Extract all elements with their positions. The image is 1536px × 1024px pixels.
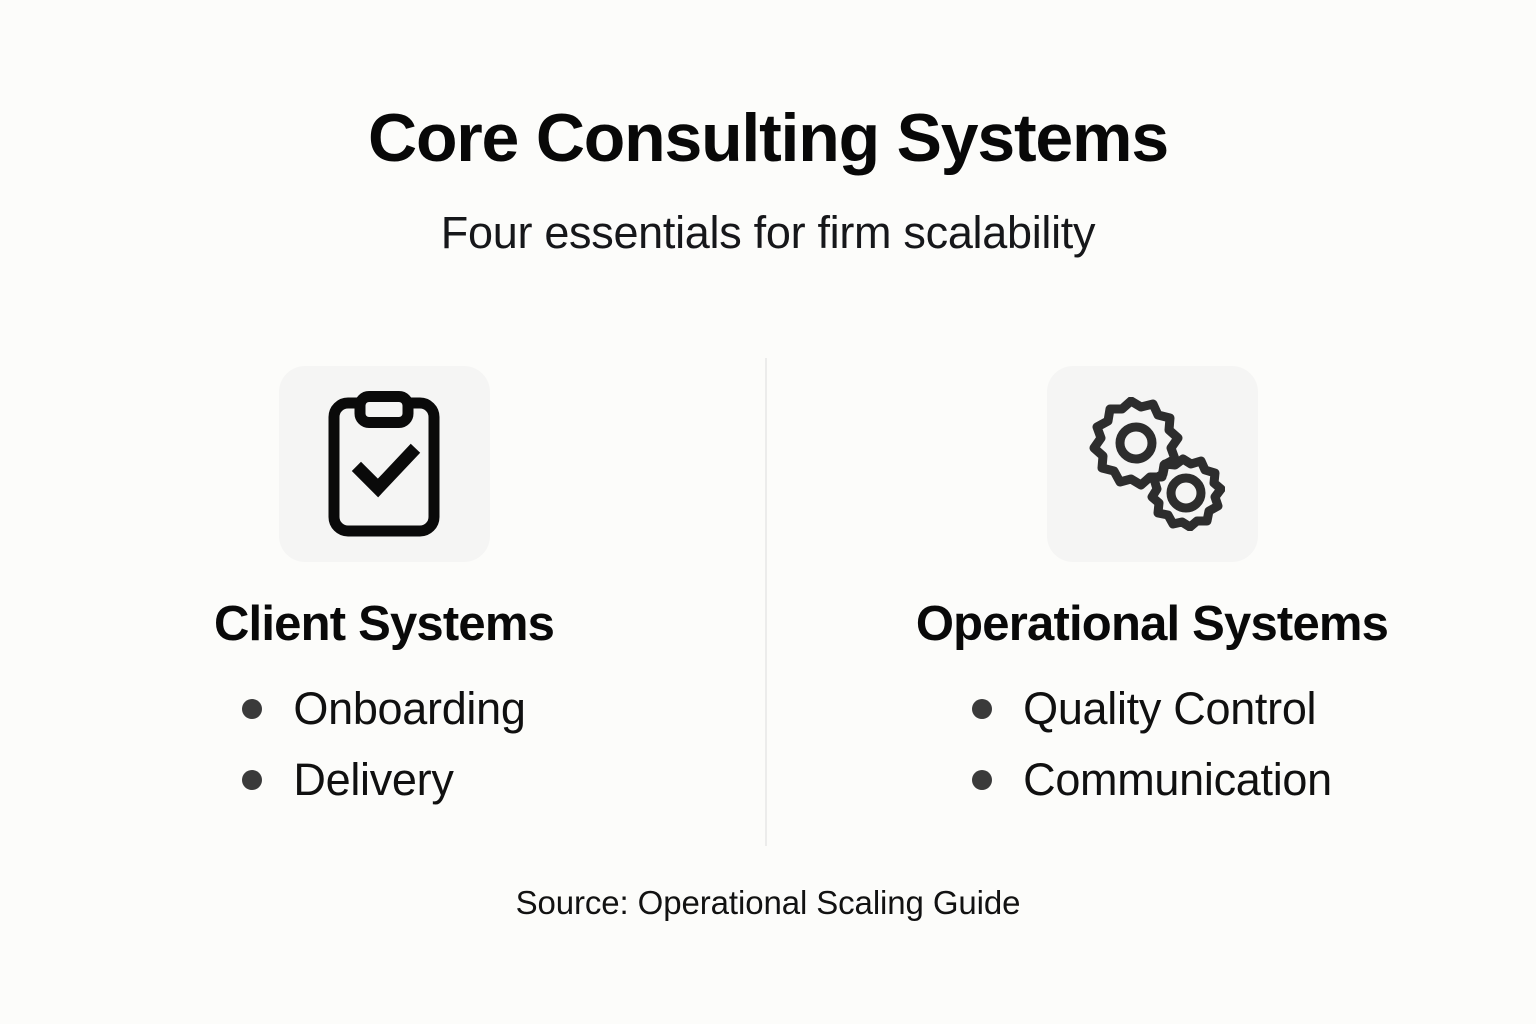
list-item-label: Quality Control [1023,686,1316,731]
clipboard-check-icon [328,391,440,537]
column-heading-client-systems: Client Systems [214,600,554,649]
list-item: Onboarding [242,686,525,731]
infographic-slide: Core Consulting Systems Four essentials … [0,0,1536,1024]
source-caption: Source: Operational Scaling Guide [0,884,1536,922]
bullet-dot-icon [972,770,992,790]
bullet-list-operational-systems: Quality Control Communication [972,686,1332,802]
page-title: Core Consulting Systems [0,104,1536,172]
bullet-dot-icon [972,699,992,719]
icon-tile-client-systems [279,366,490,562]
column-client-systems: Client Systems Onboarding Delivery [0,366,768,802]
bullet-dot-icon [242,699,262,719]
columns-container: Client Systems Onboarding Delivery [0,366,1536,802]
icon-tile-operational-systems [1047,366,1258,562]
column-heading-operational-systems: Operational Systems [916,600,1388,649]
header: Core Consulting Systems Four essentials … [0,104,1536,255]
column-operational-systems: Operational Systems Quality Control Comm… [768,366,1536,802]
list-item: Quality Control [972,686,1316,731]
bullet-dot-icon [242,770,262,790]
list-item: Communication [972,757,1332,802]
list-item: Delivery [242,757,453,802]
page-subtitle: Four essentials for firm scalability [0,210,1536,255]
list-item-label: Delivery [293,757,453,802]
gears-icon [1079,397,1225,531]
bullet-list-client-systems: Onboarding Delivery [242,686,525,802]
list-item-label: Communication [1023,757,1332,802]
list-item-label: Onboarding [293,686,525,731]
